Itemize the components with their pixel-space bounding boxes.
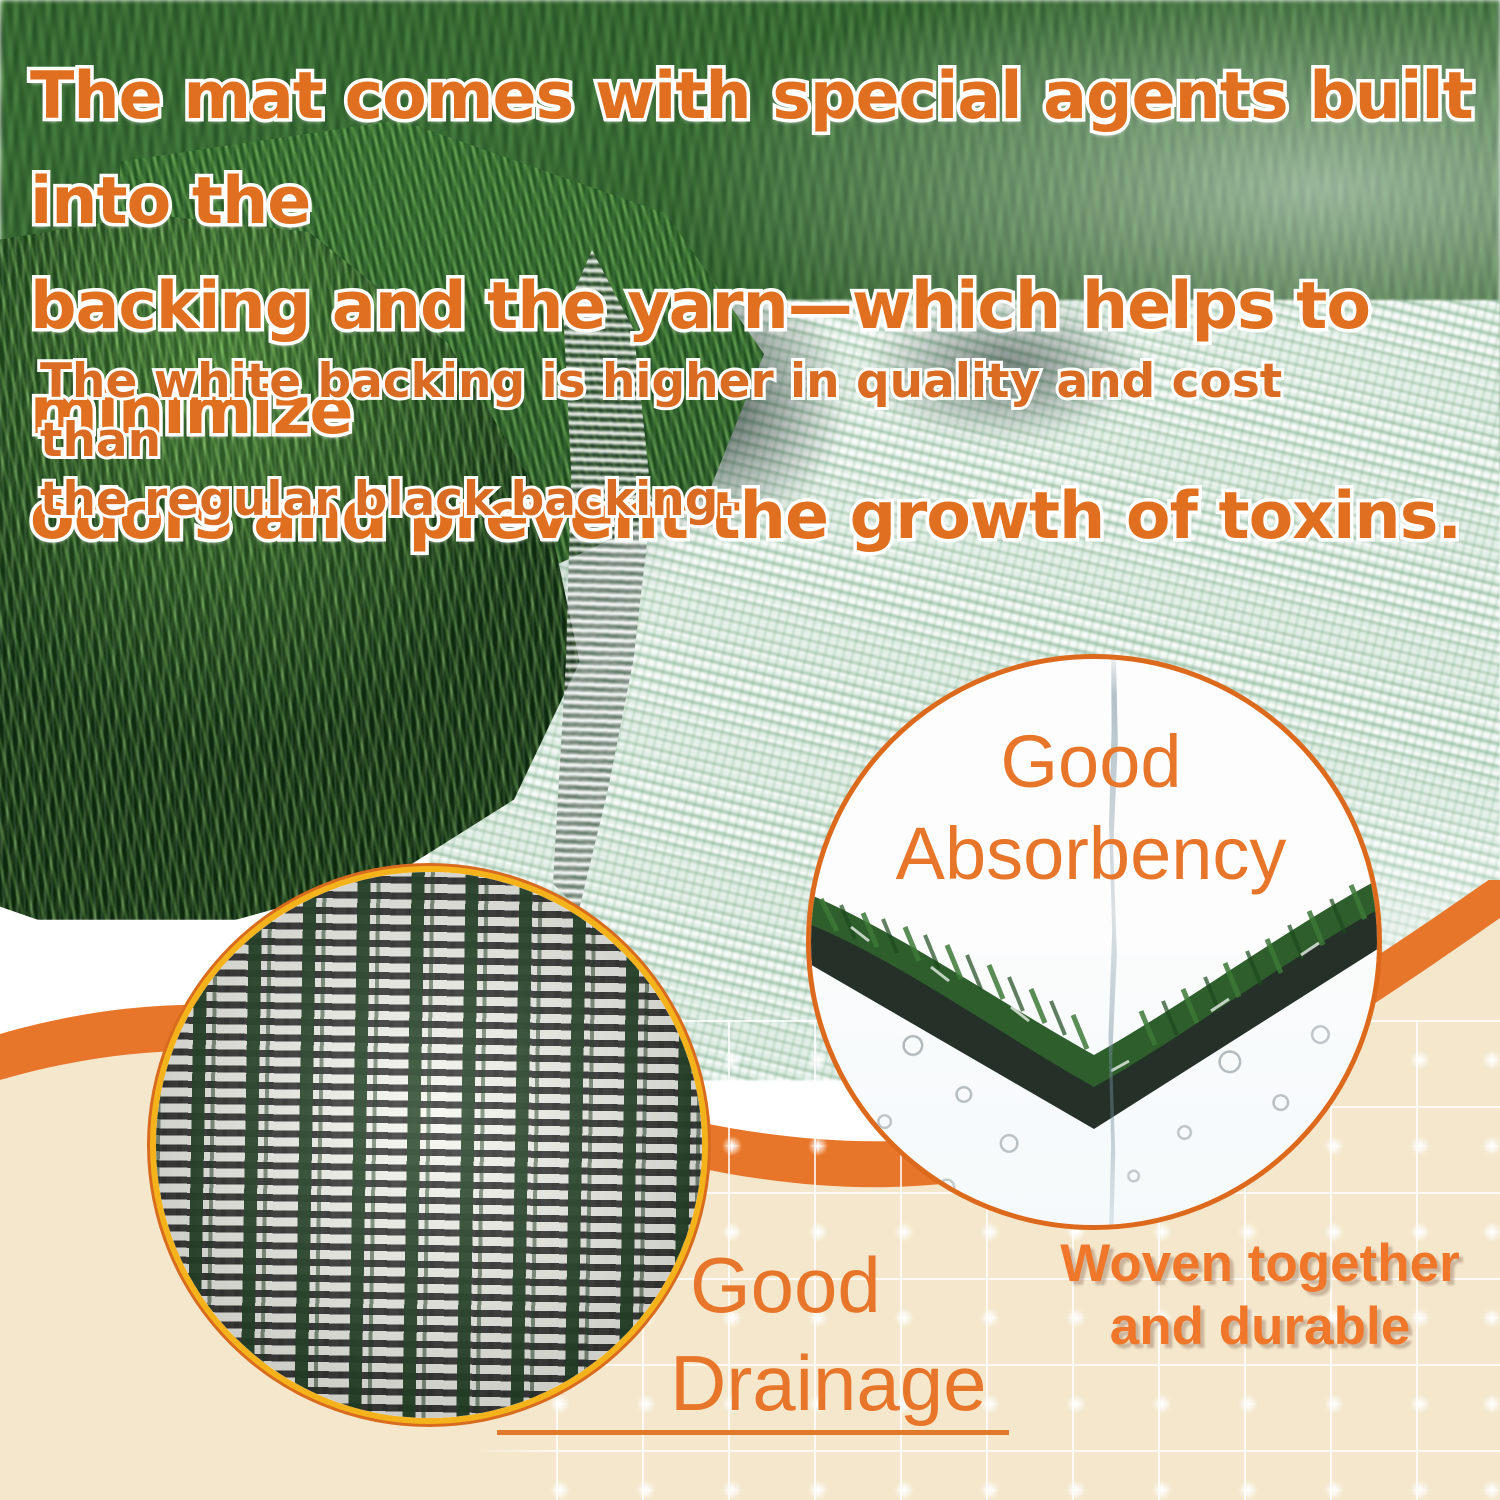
drainage-label: Good Drainage <box>690 1236 1090 1432</box>
absorbency-label: Good Absorbency <box>836 716 1346 900</box>
sub-headline: The white backing is higher in quality a… <box>40 352 1310 529</box>
durability-label-line-1: Woven together <box>1045 1232 1475 1295</box>
drainage-underline <box>497 1430 1009 1435</box>
woven-backing-icon <box>150 866 708 1424</box>
drainage-label-line-2: Drainage <box>670 1334 1090 1432</box>
durability-label-line-2: and durable <box>1045 1295 1475 1358</box>
subheadline-line-2: the regular black backing. <box>40 470 1310 529</box>
absorbency-label-line-2: Absorbency <box>836 808 1346 900</box>
headline-line-1: The mat comes with special agents built … <box>30 44 1480 254</box>
product-feature-infographic: The mat comes with special agents built … <box>0 0 1500 1500</box>
drainage-photo-circle <box>150 866 708 1424</box>
drainage-label-line-1: Good <box>690 1236 1090 1334</box>
durability-label: Woven together and durable <box>1045 1232 1475 1358</box>
subheadline-line-1: The white backing is higher in quality a… <box>40 352 1310 470</box>
absorbency-label-line-1: Good <box>836 716 1346 808</box>
